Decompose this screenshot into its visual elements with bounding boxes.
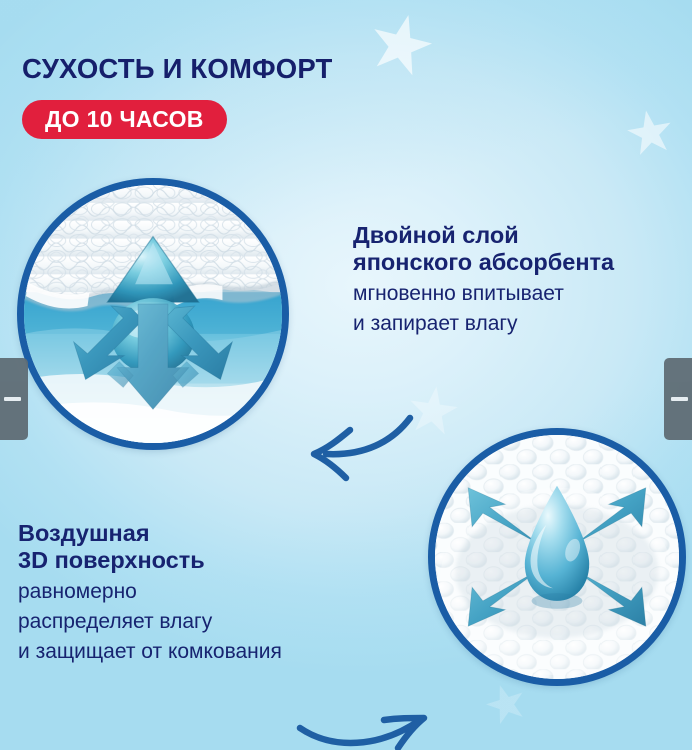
- feature-body-line1: мгновенно впитывает: [353, 281, 614, 307]
- next-slide-button[interactable]: [664, 358, 692, 440]
- feature-text-absorbent: Двойной слой японского абсорбента мгнове…: [353, 222, 614, 337]
- illustration-3d-surface: [428, 428, 686, 686]
- feature-body-line2: распределяет влагу: [18, 609, 282, 635]
- prev-slide-button[interactable]: [0, 358, 28, 440]
- feature-heading-line2: японского абсорбента: [353, 249, 614, 276]
- page-title: СУХОСТЬ И КОМФОРТ: [22, 55, 333, 83]
- feature-body-line1: равномерно: [18, 579, 282, 605]
- duration-badge: ДО 10 ЧАСОВ: [22, 100, 227, 139]
- chevron-left-icon: [4, 397, 21, 401]
- feature-text-surface: Воздушная 3D поверхность равномерно расп…: [18, 520, 282, 665]
- feature-heading-line2: 3D поверхность: [18, 547, 282, 574]
- feature-heading-line1: Воздушная: [18, 520, 282, 547]
- feature-body-line3: и защищает от комкования: [18, 639, 282, 665]
- feature-body-line2: и запирает влагу: [353, 311, 614, 337]
- illustration-absorbent-layers: [17, 178, 289, 450]
- chevron-right-icon: [671, 397, 688, 401]
- infographic-slide: СУХОСТЬ И КОМФОРТ ДО 10 ЧАСОВ: [0, 0, 692, 750]
- feature-heading-line1: Двойной слой: [353, 222, 614, 249]
